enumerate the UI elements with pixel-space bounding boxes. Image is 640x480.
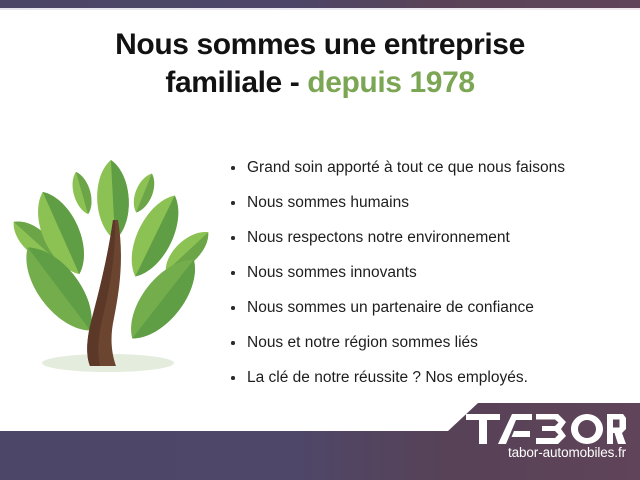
bullet-dot-icon	[231, 306, 235, 310]
headline-line-2-prefix: familiale -	[165, 66, 307, 99]
tree-icon	[12, 160, 217, 385]
list-item: Nous sommes un partenaire de confiance	[229, 290, 629, 325]
headline-line-2: familiale - depuis 1978	[0, 64, 640, 102]
list-item: La clé de notre réussite ? Nos employés.	[229, 360, 629, 395]
feature-list: Grand soin apporté à tout ce que nous fa…	[229, 150, 629, 395]
list-item-label: Nous et notre région sommes liés	[247, 334, 478, 351]
tree-trunk-icon	[87, 220, 121, 366]
brand-tagline: tabor-automobiles.fr	[446, 445, 626, 460]
list-item: Nous et notre région sommes liés	[229, 325, 629, 360]
bullet-dot-icon	[231, 201, 235, 205]
bullet-dot-icon	[231, 341, 235, 345]
top-accent-hairline	[0, 8, 640, 10]
brand-lockup: tabor-automobiles.fr	[446, 414, 626, 460]
list-item: Nous respectons notre environnement	[229, 220, 629, 255]
list-item-label: Nous sommes un partenaire de confiance	[247, 299, 534, 316]
headline-line-1: Nous sommes une entreprise	[115, 28, 525, 61]
list-item-label: Nous respectons notre environnement	[247, 229, 510, 246]
bullet-dot-icon	[231, 271, 235, 275]
list-item-label: Nous sommes humains	[247, 194, 409, 211]
top-accent-strip	[0, 0, 640, 8]
page-title: Nous sommes une entreprise familiale - d…	[0, 26, 640, 102]
list-item: Nous sommes innovants	[229, 255, 629, 290]
list-item: Nous sommes humains	[229, 185, 629, 220]
bullet-dot-icon	[231, 166, 235, 170]
bullet-dot-icon	[231, 376, 235, 380]
bullet-dot-icon	[231, 236, 235, 240]
list-item-label: Nous sommes innovants	[247, 264, 417, 281]
tabor-wordmark	[446, 414, 626, 444]
list-item-label: Grand soin apporté à tout ce que nous fa…	[247, 159, 565, 176]
list-item: Grand soin apporté à tout ce que nous fa…	[229, 150, 629, 185]
list-item-label: La clé de notre réussite ? Nos employés.	[247, 369, 528, 386]
headline-accent: depuis 1978	[307, 66, 474, 99]
